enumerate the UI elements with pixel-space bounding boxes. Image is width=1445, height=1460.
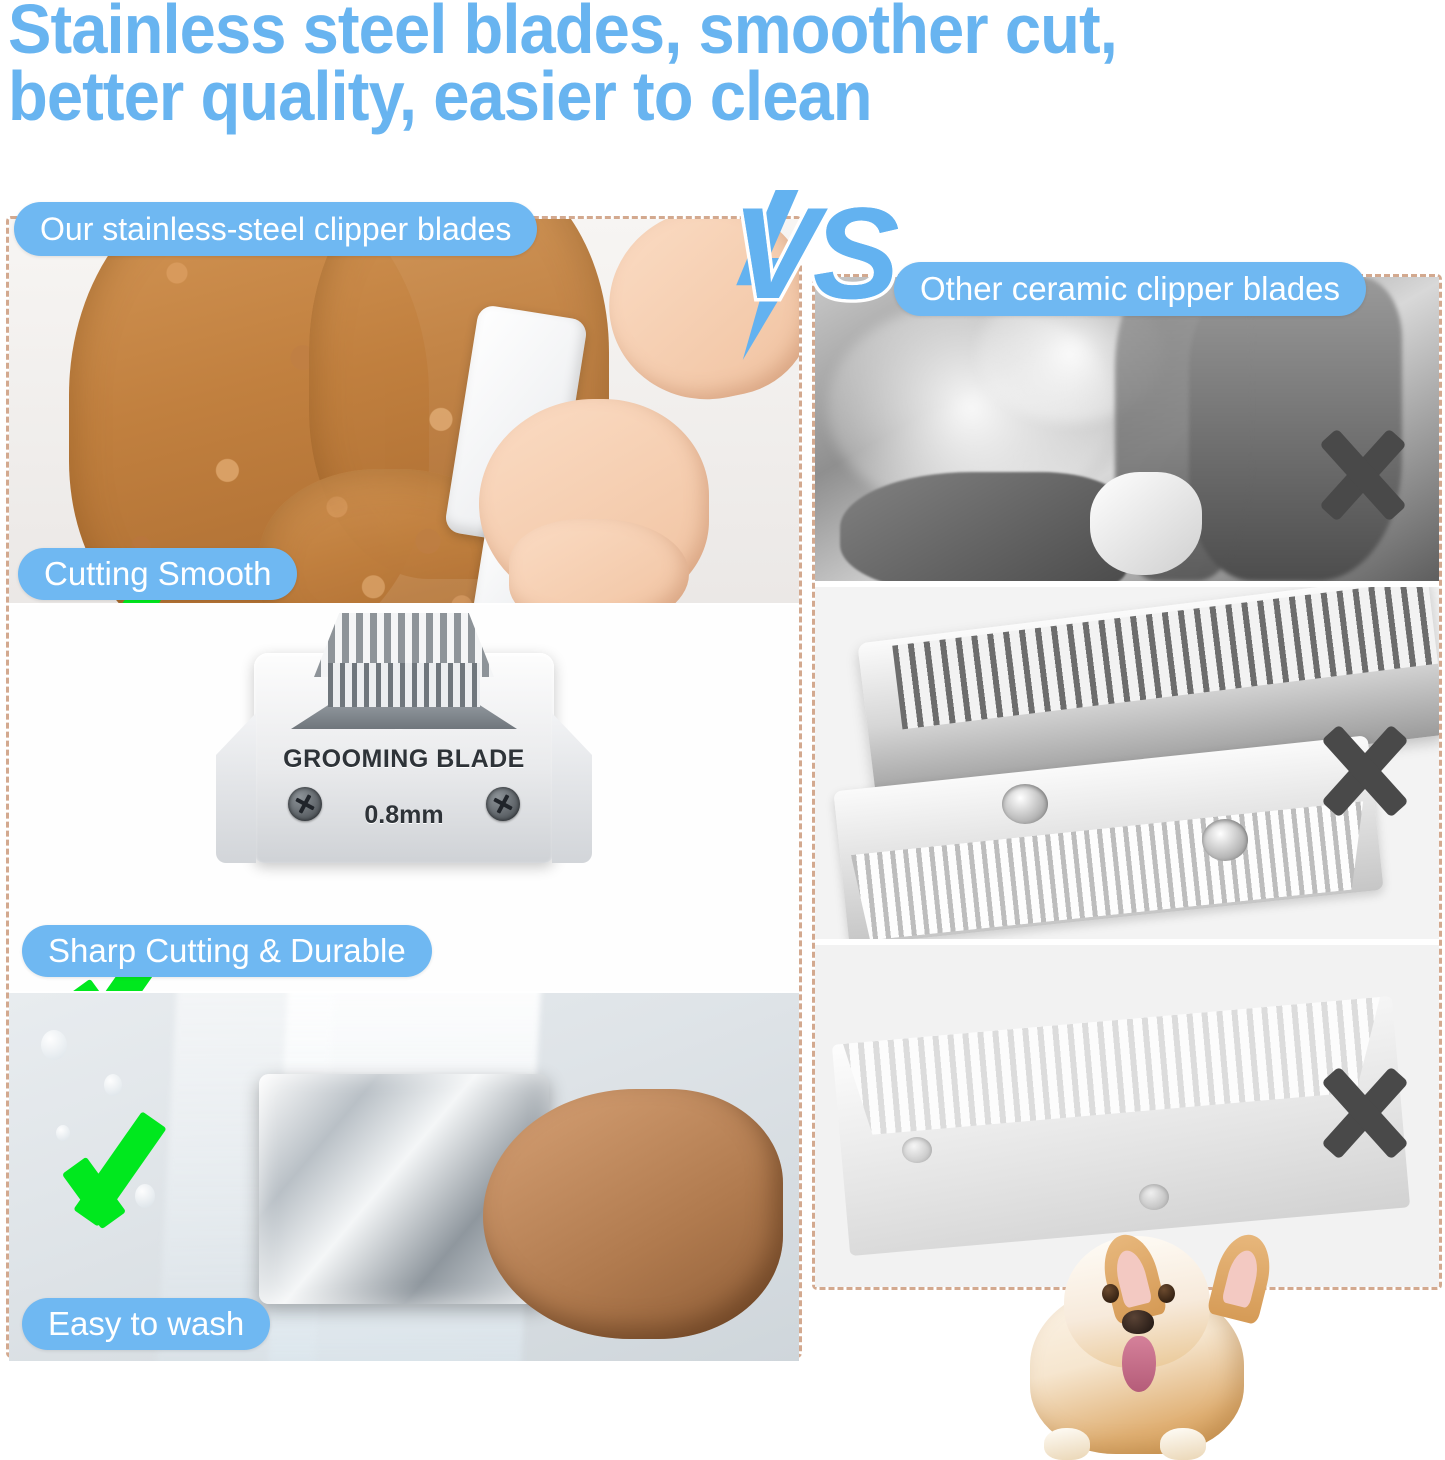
poodle-grooming-photo	[9, 219, 799, 603]
headline-line-2: better quality, easier to clean	[8, 63, 1344, 130]
blade-name-engraving: GROOMING BLADE	[254, 745, 554, 774]
our-blades-panel: 5/8 GROOMING BLADE 0.8mm	[6, 216, 802, 1358]
versus-label: VS	[732, 188, 893, 318]
red-x-icon	[1317, 1065, 1413, 1161]
our-blades-label: Our stainless-steel clipper blades	[14, 202, 537, 256]
corgi-mascot	[1012, 1210, 1262, 1458]
headline-line-1: Stainless steel blades, smoother cut,	[8, 0, 1344, 63]
ceramic-shaving-photo	[815, 277, 1439, 581]
green-check-icon	[71, 1113, 196, 1225]
page-title: Stainless steel blades, smoother cut, be…	[8, 0, 1344, 129]
red-x-icon	[1315, 427, 1411, 523]
versus-badge: VS VS	[718, 182, 898, 362]
ceramic-blade-closeup-photo	[815, 587, 1439, 939]
red-x-icon	[1317, 723, 1413, 819]
other-blades-panel	[812, 274, 1442, 1290]
other-blades-label: Other ceramic clipper blades	[894, 262, 1366, 316]
caption-cutting-smooth: Cutting Smooth	[18, 548, 297, 600]
caption-easy-to-wash: Easy to wash	[22, 1298, 270, 1350]
caption-sharp-cutting-durable: Sharp Cutting & Durable	[22, 925, 432, 977]
